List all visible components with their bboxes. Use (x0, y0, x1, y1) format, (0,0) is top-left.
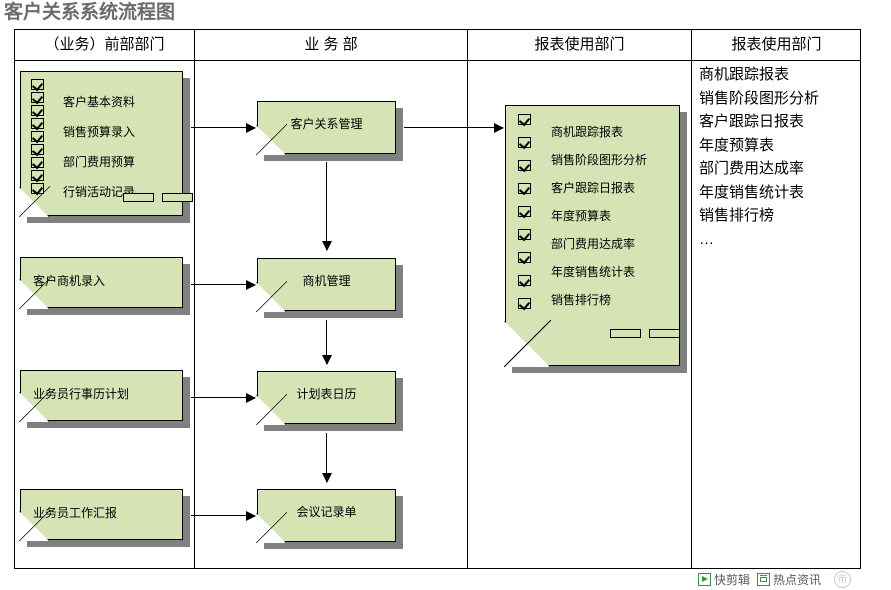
page-title: 客户关系系统流程图 (4, 0, 175, 26)
checkbox-column (31, 79, 44, 196)
box-label: 客户关系管理 (257, 115, 396, 132)
checkbox-icon[interactable] (31, 170, 44, 181)
checkbox-icon[interactable] (518, 206, 531, 217)
list-item-ellipsis: … (699, 228, 819, 252)
arrow-opportunity-to-calendar (326, 320, 327, 364)
checkbox-column (518, 114, 531, 311)
news-icon (757, 573, 770, 586)
footer-item-news[interactable]: 热点资讯 (757, 571, 821, 588)
column-header-business-dept: 业 务 部 (195, 30, 467, 60)
checkbox-icon[interactable] (31, 144, 44, 155)
list-item: 销售排行榜 (699, 204, 819, 228)
box-sales-calendar-plan[interactable]: 业务员行事历计划 (20, 370, 183, 421)
arrow-crm-to-opportunity (326, 162, 327, 250)
footer-item-clip[interactable]: 快剪辑 (698, 571, 750, 588)
arrow-plan-to-calendar (191, 397, 255, 398)
arrow-calendar-to-meeting (326, 433, 327, 482)
arrow-entry-to-opportunity (191, 284, 255, 285)
checkbox-icon[interactable] (31, 183, 44, 194)
list-item: 销售排行榜 (551, 291, 647, 308)
box-meeting-minutes[interactable]: 会议记录单 (257, 489, 396, 542)
document-button-bar (123, 193, 193, 202)
arrow-report-to-meeting (191, 515, 255, 516)
column-divider-3 (691, 30, 692, 568)
box-crm-management[interactable]: 客户关系管理 (257, 101, 396, 154)
list-item: 部门费用预算 (63, 153, 135, 170)
flowchart-table: （业务）前部部门 业 务 部 报表使用部门 报表使用部门 客户 (14, 29, 861, 569)
checkbox-icon[interactable] (31, 131, 44, 142)
arrow-head-icon (246, 280, 256, 290)
list-item: 年度预算表 (551, 207, 647, 224)
list-item: 商机跟踪报表 (551, 123, 647, 140)
list-item: 销售阶段图形分析 (551, 151, 647, 168)
arrow-head-icon (322, 473, 332, 483)
mini-button[interactable] (610, 329, 641, 338)
column-header-front-dept: （业务）前部部门 (15, 30, 194, 60)
document-button-bar (610, 329, 680, 338)
form-entry-document[interactable]: 客户基本资料 销售预算录入 部门费用预算 行销活动记录 (20, 71, 183, 216)
checkbox-icon[interactable] (518, 229, 531, 240)
footer-watermark: 快剪辑 热点资讯 衔 (698, 571, 851, 588)
box-customer-opportunity-entry[interactable]: 客户商机录入 (20, 257, 183, 308)
list-item: 客户跟踪日报表 (551, 179, 647, 196)
box-label: 客户商机录入 (33, 272, 105, 289)
arrow-head-icon (322, 355, 332, 365)
checkbox-icon[interactable] (31, 92, 44, 103)
checkbox-icon[interactable] (518, 252, 531, 263)
checkbox-icon[interactable] (31, 157, 44, 168)
list-item: 销售阶段图形分析 (699, 87, 819, 111)
watermark-circle-icon: 衔 (834, 571, 851, 588)
list-item: 销售预算录入 (63, 123, 135, 140)
box-schedule-calendar[interactable]: 计划表日历 (257, 371, 396, 424)
checkbox-icon[interactable] (518, 183, 531, 194)
arrow-crm-to-report (404, 127, 503, 128)
report-item-list: 商机跟踪报表 销售阶段图形分析 客户跟踪日报表 年度预算表 部门费用达成率 年度… (551, 123, 647, 308)
arrow-head-icon (246, 123, 256, 133)
box-label: 计划表日历 (257, 385, 396, 402)
report-name-list: 商机跟踪报表 销售阶段图形分析 客户跟踪日报表 年度预算表 部门费用达成率 年度… (699, 63, 819, 251)
header-divider (15, 60, 860, 61)
footer-label: 热点资讯 (773, 571, 821, 588)
list-item: 客户基本资料 (63, 93, 135, 110)
list-item: 年度销售统计表 (551, 263, 647, 280)
list-item: 部门费用达成率 (551, 235, 647, 252)
box-label: 会议记录单 (257, 503, 396, 520)
checkbox-icon[interactable] (518, 160, 531, 171)
list-item: 商机跟踪报表 (699, 63, 819, 87)
column-header-report-dept-1: 报表使用部门 (468, 30, 691, 60)
checkbox-icon[interactable] (31, 79, 44, 90)
checkbox-icon[interactable] (31, 118, 44, 129)
mini-button[interactable] (649, 329, 680, 338)
list-item: 年度预算表 (699, 134, 819, 158)
box-label: 业务员工作汇报 (33, 504, 117, 521)
arrow-head-icon (246, 393, 256, 403)
list-item: 年度销售统计表 (699, 181, 819, 205)
checkbox-icon[interactable] (518, 114, 531, 125)
mini-button[interactable] (162, 193, 193, 202)
list-item: 客户跟踪日报表 (699, 110, 819, 134)
checkbox-icon[interactable] (518, 275, 531, 286)
checkbox-icon[interactable] (518, 137, 531, 148)
box-label: 业务员行事历计划 (33, 385, 129, 402)
mini-button[interactable] (123, 193, 154, 202)
column-divider-2 (467, 30, 468, 568)
box-label: 商机管理 (257, 272, 396, 289)
form-item-list: 客户基本资料 销售预算录入 部门费用预算 行销活动记录 (63, 93, 135, 200)
column-divider-1 (194, 30, 195, 568)
list-item: 部门费用达成率 (699, 157, 819, 181)
box-opportunity-management[interactable]: 商机管理 (257, 258, 396, 311)
play-icon (698, 573, 711, 586)
footer-label: 快剪辑 (714, 571, 750, 588)
report-output-document[interactable]: 商机跟踪报表 销售阶段图形分析 客户跟踪日报表 年度预算表 部门费用达成率 年度… (505, 105, 680, 366)
column-header-report-dept-2: 报表使用部门 (692, 30, 861, 60)
arrow-form-to-crm (191, 127, 255, 128)
arrow-head-icon (494, 123, 504, 133)
checkbox-icon[interactable] (518, 298, 531, 309)
arrow-head-icon (322, 241, 332, 251)
box-sales-work-report[interactable]: 业务员工作汇报 (20, 489, 183, 540)
checkbox-icon[interactable] (31, 105, 44, 116)
flowchart-page: 客户关系系统流程图 （业务）前部部门 业 务 部 报表使用部门 报表使用部门 (0, 0, 891, 590)
arrow-head-icon (246, 511, 256, 521)
